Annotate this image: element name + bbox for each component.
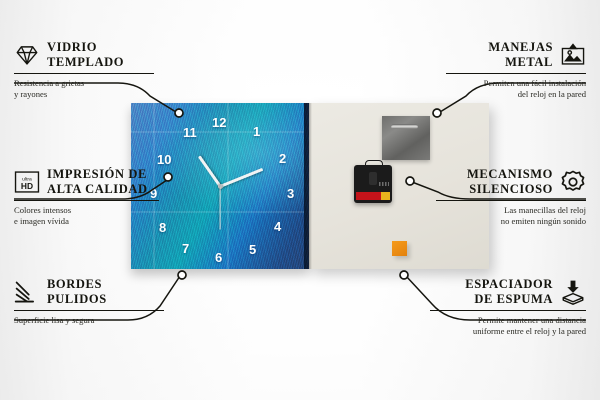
callout-subtitle: del reloj en la pared <box>446 89 586 100</box>
callout-rule <box>14 200 159 202</box>
connector-dot <box>406 177 414 185</box>
callout-vidrio-templado[interactable]: VIDRIO TEMPLADO Resistencia a grietas y … <box>14 40 154 101</box>
callout-subtitle: Permite mantener una distancia <box>430 315 586 326</box>
callout-subtitle: Superficie lisa y segura <box>14 315 164 326</box>
picture-hanger-icon <box>560 42 586 68</box>
callout-title: PULIDOS <box>47 292 107 307</box>
callout-subtitle: y rayones <box>14 89 154 100</box>
callout-title: MECANISMO <box>467 167 553 182</box>
callout-subtitle: no emiten ningún sonido <box>436 216 586 227</box>
callout-mecanismo-silencioso[interactable]: MECANISMO SILENCIOSO Las manecillas del … <box>436 167 586 228</box>
callout-title: TEMPLADO <box>47 55 124 70</box>
callout-bordes-pulidos[interactable]: BORDES PULIDOS Superficie lisa y segura <box>14 277 164 326</box>
infographic-canvas: 12 1 2 3 4 5 6 7 8 9 10 11 <box>0 0 600 400</box>
gear-icon <box>560 169 586 195</box>
callout-rule <box>14 310 164 312</box>
callout-rule <box>430 310 586 312</box>
callout-subtitle: Colores intensos <box>14 205 159 216</box>
connector-dot <box>164 173 172 181</box>
callout-title: DE ESPUMA <box>465 292 553 307</box>
diamond-icon <box>14 42 40 68</box>
callout-title: SILENCIOSO <box>467 182 553 197</box>
callout-title: ESPACIADOR <box>465 277 553 292</box>
callout-title: ALTA CALIDAD <box>47 182 148 197</box>
diagonal-lines-icon <box>14 279 40 305</box>
callout-subtitle: e imagen vívida <box>14 216 159 227</box>
callout-subtitle: Las manecillas del reloj <box>436 205 586 216</box>
callout-rule <box>14 73 154 75</box>
ultra-hd-icon: ultra HD <box>14 169 40 195</box>
callout-subtitle: Resistencia a grietas <box>14 78 154 89</box>
callout-manejas-metal[interactable]: MANEJAS METAL Permiten una fácil instala… <box>446 40 586 101</box>
foam-spacer-icon <box>560 279 586 305</box>
callout-subtitle: uniforme entre el reloj y la pared <box>430 326 586 337</box>
connector-dot <box>175 109 183 117</box>
connector-dot <box>400 271 408 279</box>
callout-subtitle: Permiten una fácil instalación <box>446 78 586 89</box>
callout-title: VIDRIO <box>47 40 124 55</box>
callout-title: METAL <box>488 55 553 70</box>
callout-rule <box>446 73 586 75</box>
callout-title: MANEJAS <box>488 40 553 55</box>
callout-espaciador-espuma[interactable]: ESPACIADOR DE ESPUMA Permite mantener un… <box>430 277 586 338</box>
callout-impresion-alta-calidad[interactable]: ultra HD IMPRESIÓN DE ALTA CALIDAD Color… <box>14 167 159 228</box>
callout-rule <box>436 200 586 202</box>
svg-text:HD: HD <box>21 181 33 191</box>
connector-dot <box>178 271 186 279</box>
callout-title: BORDES <box>47 277 107 292</box>
connector-dot <box>433 109 441 117</box>
callout-title: IMPRESIÓN DE <box>47 167 148 182</box>
